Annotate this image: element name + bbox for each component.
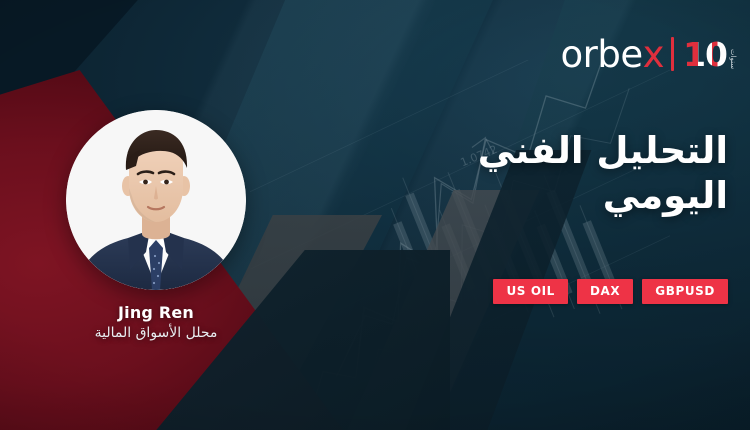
vignette-overlay <box>0 0 750 430</box>
orbex-daily-technical-analysis-banner: 1.0742 orbex 10 سنوات التحليل الفني اليو… <box>0 0 750 430</box>
